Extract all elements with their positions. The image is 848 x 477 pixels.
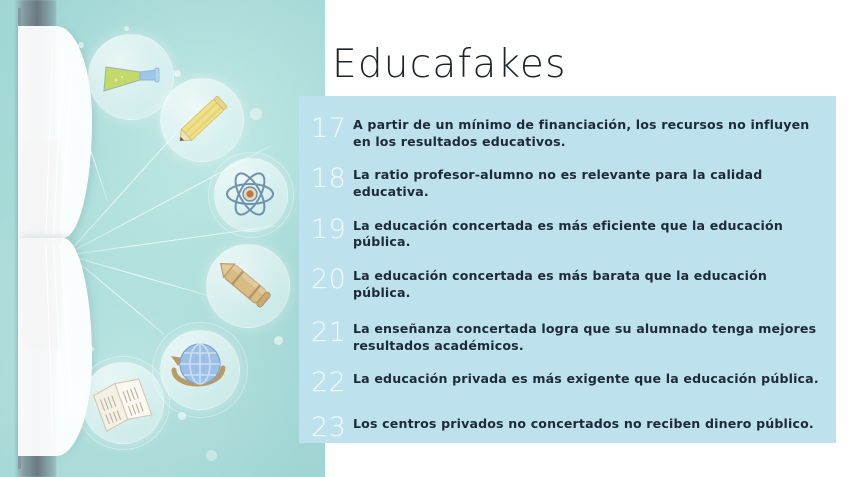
list-item: 23 Los centros privados no concertados n… — [311, 413, 828, 441]
illustration-panel — [0, 0, 325, 477]
list-item-text: La educación concertada es más eficiente… — [353, 215, 828, 252]
slide-canvas: Educafakes 17 A partir de un mínimo de f… — [0, 0, 848, 477]
open-book-icon — [92, 372, 154, 434]
claims-list: 17 A partir de un mínimo de financiación… — [299, 96, 836, 443]
list-item: 22 La educación privada es más exigente … — [311, 368, 828, 396]
list-item-number: 17 — [311, 114, 353, 142]
decorative-dot — [124, 26, 129, 31]
list-item-number: 23 — [311, 413, 353, 441]
list-item-number: 19 — [311, 215, 353, 243]
list-item-number: 22 — [311, 368, 353, 396]
list-item: 17 A partir de un mínimo de financiación… — [311, 114, 828, 151]
flask-icon — [100, 55, 162, 97]
decorative-dot — [274, 336, 283, 345]
decorative-dot — [250, 108, 262, 120]
list-item-number: 21 — [311, 318, 353, 346]
content-panel: 17 A partir de un mínimo de financiación… — [299, 96, 836, 443]
list-item-number: 20 — [311, 265, 353, 293]
decorative-dot — [78, 42, 84, 48]
atom-icon — [224, 168, 276, 220]
list-item-text: La ratio profesor-alumno no es relevante… — [353, 164, 828, 201]
list-item: 21 La enseñanza concertada logra que su … — [311, 318, 828, 355]
list-item: 19 La educación concertada es más eficie… — [311, 215, 828, 252]
decorative-dot — [88, 346, 94, 352]
list-item-text: A partir de un mínimo de financiación, l… — [353, 114, 828, 151]
list-item-text: Los centros privados no concertados no r… — [353, 413, 828, 433]
decorative-dot — [174, 70, 181, 77]
list-item-text: La educación concertada es más barata qu… — [353, 265, 828, 302]
list-item-number: 18 — [311, 164, 353, 192]
crayon-icon — [216, 254, 278, 316]
list-item-text: La educación privada es más exigente que… — [353, 368, 828, 388]
list-item: 20 La educación concertada es más barata… — [311, 265, 828, 302]
page-title: Educafakes — [332, 42, 567, 87]
pencil-icon — [172, 90, 234, 150]
decorative-dot — [206, 450, 217, 461]
list-item: 18 La ratio profesor-alumno no es releva… — [311, 164, 828, 201]
decorative-curve — [72, 256, 216, 298]
globe-icon — [168, 336, 230, 398]
list-item-text: La enseñanza concertada logra que su alu… — [353, 318, 828, 355]
